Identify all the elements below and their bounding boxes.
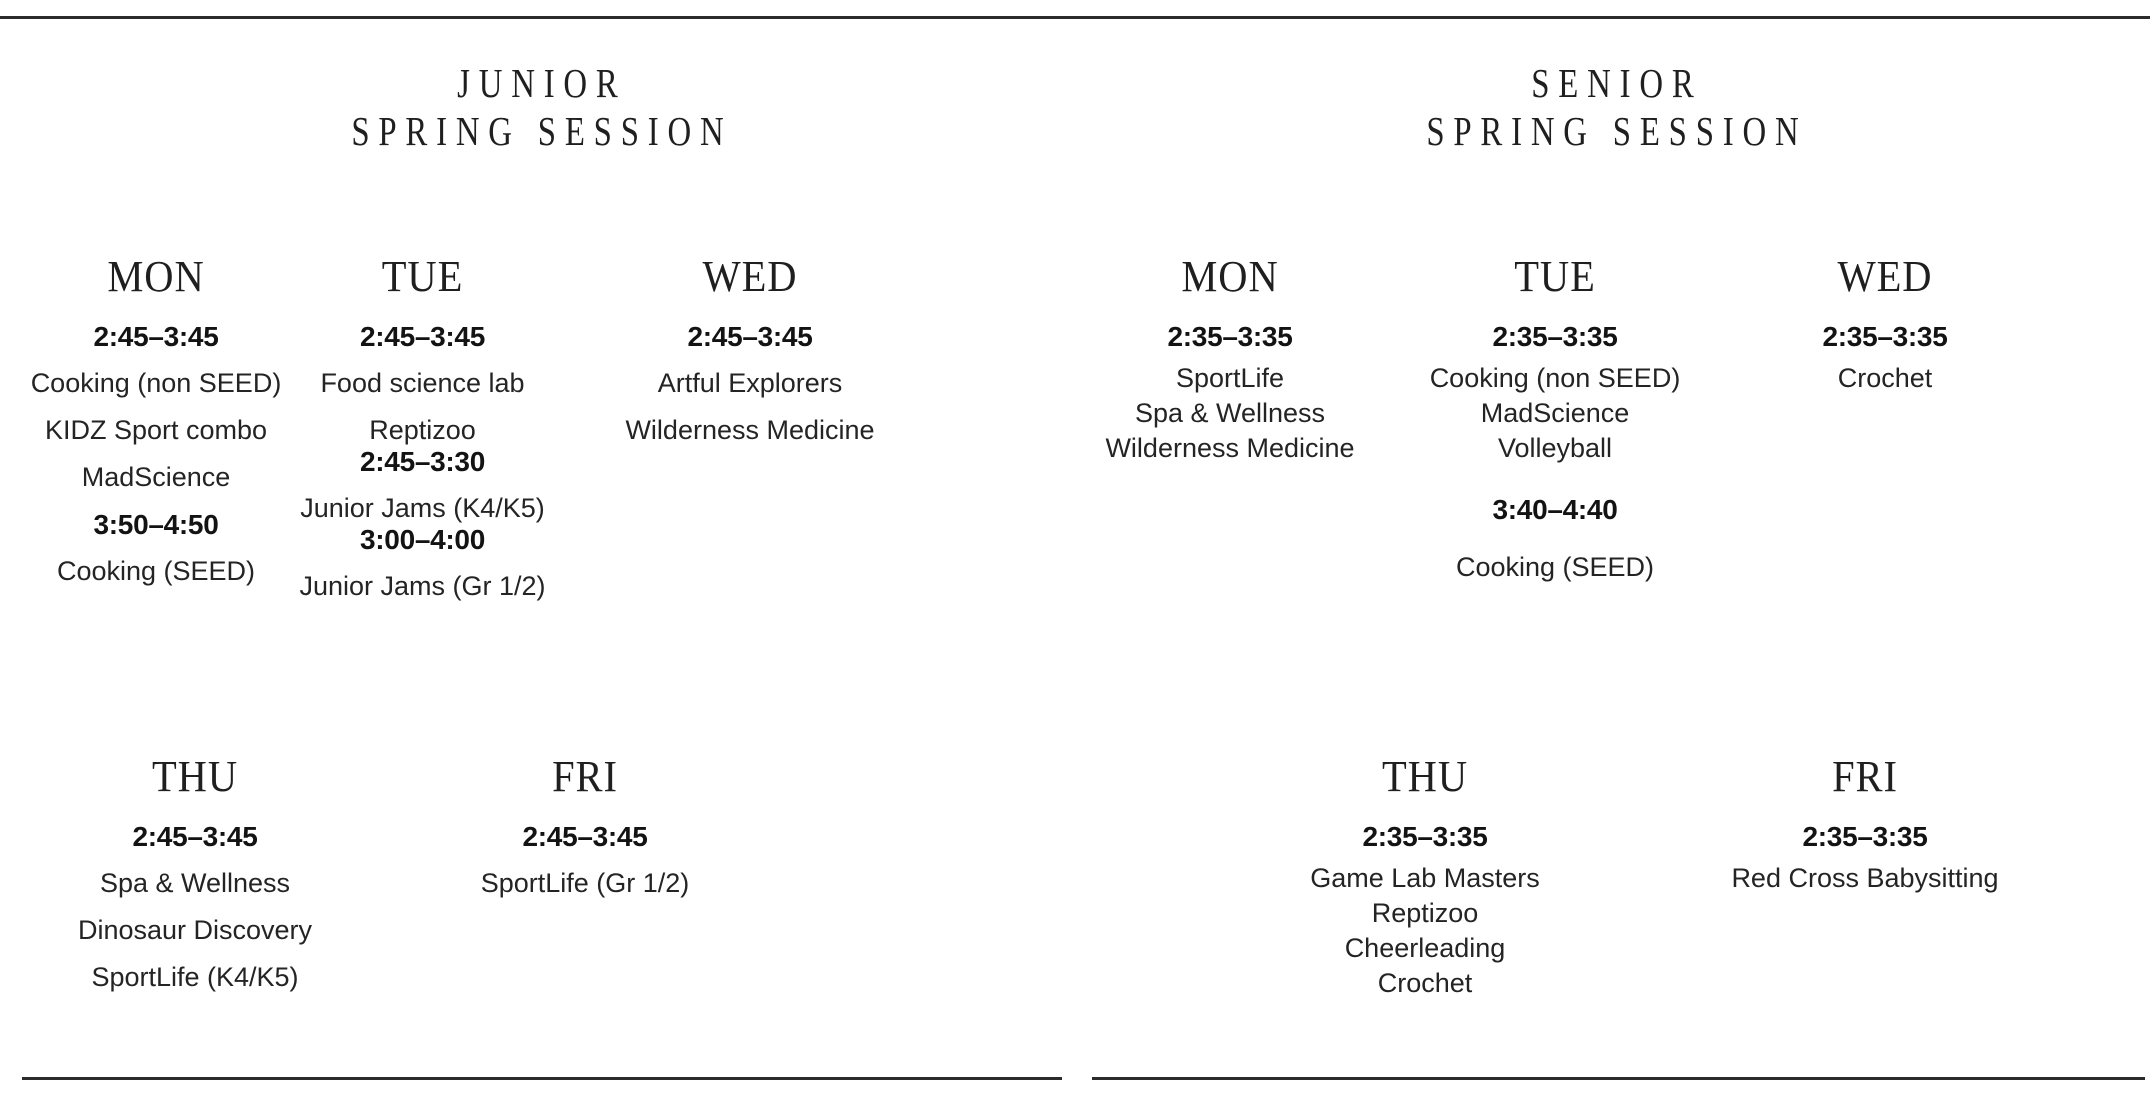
junior-wed-activity: Artful Explorers — [590, 368, 910, 399]
senior-tue-slot-2-time: 3:40–4:40 — [1400, 494, 1710, 526]
senior-mon-slot-1-time: 2:35–3:35 — [1070, 321, 1390, 353]
junior-mon-activity: MadScience — [0, 462, 312, 493]
senior-day-column-mon: MON 2:35–3:35 SportLife Spa & Wellness W… — [1070, 255, 1390, 464]
senior-mon-slot-1: 2:35–3:35 SportLife Spa & Wellness Wilde… — [1070, 321, 1390, 464]
senior-mon-activity: SportLife — [1070, 363, 1390, 394]
junior-fri-activity: SportLife (Gr 1/2) — [440, 868, 730, 899]
junior-day-name-mon: MON — [12, 255, 299, 299]
senior-tue-slot-1: 2:35–3:35 Cooking (non SEED) MadScience … — [1400, 321, 1710, 464]
junior-tue-activity: Reptizoo — [275, 415, 570, 446]
junior-thu-slot-1-time: 2:45–3:45 — [50, 821, 340, 853]
junior-fri-slot-1: 2:45–3:45 SportLife (Gr 1/2) — [440, 821, 730, 899]
junior-mon-activity: KIDZ Sport combo — [0, 415, 312, 446]
junior-session-title-line2: SPRING SESSION — [108, 108, 968, 156]
junior-session-title-line1: JUNIOR — [457, 60, 626, 106]
senior-tue-activity: Cooking (non SEED) — [1400, 363, 1710, 394]
senior-fri-slot-1: 2:35–3:35 Red Cross Babysitting — [1705, 821, 2025, 894]
junior-mon-slot-1-time: 2:45–3:45 — [0, 321, 312, 353]
senior-wed-activity: Crochet — [1735, 363, 2035, 394]
bottom-divider-rule-right — [1092, 1077, 2145, 1080]
senior-session-section: SENIOR SPRING SESSION MON 2:35–3:35 Spor… — [1075, 0, 2150, 1102]
senior-thu-slot-1: 2:35–3:35 Game Lab Masters Reptizoo Chee… — [1275, 821, 1575, 999]
senior-mon-activity: Spa & Wellness — [1070, 398, 1390, 429]
junior-day-name-thu: THU — [62, 755, 329, 799]
junior-tue-slot-3: 3:00–4:00 Junior Jams (Gr 1/2) — [275, 524, 570, 602]
senior-tue-activity: Cooking (SEED) — [1400, 552, 1710, 583]
junior-day-name-fri: FRI — [452, 755, 719, 799]
senior-day-name-fri: FRI — [1718, 755, 2012, 799]
junior-day-name-wed: WED — [603, 255, 897, 299]
senior-wed-slot-1-time: 2:35–3:35 — [1735, 321, 2035, 353]
junior-session-title: JUNIOR SPRING SESSION — [108, 60, 968, 156]
senior-day-name-tue: TUE — [1412, 255, 1697, 299]
junior-day-column-tue: TUE 2:45–3:45 Food science lab Reptizoo … — [275, 255, 570, 602]
senior-thu-slot-1-time: 2:35–3:35 — [1275, 821, 1575, 853]
senior-thu-activity: Reptizoo — [1275, 898, 1575, 929]
junior-session-section: JUNIOR SPRING SESSION MON 2:45–3:45 Cook… — [0, 0, 1075, 1102]
junior-day-column-thu: THU 2:45–3:45 Spa & Wellness Dinosaur Di… — [50, 755, 340, 993]
junior-tue-slot-1: 2:45–3:45 Food science lab Reptizoo — [275, 321, 570, 446]
junior-thu-activity: SportLife (K4/K5) — [50, 962, 340, 993]
senior-day-column-tue: TUE 2:35–3:35 Cooking (non SEED) MadScie… — [1400, 255, 1710, 583]
senior-tue-slot-1-time: 2:35–3:35 — [1400, 321, 1710, 353]
junior-wed-activity: Wilderness Medicine — [590, 415, 910, 446]
senior-tue-activity: Volleyball — [1400, 433, 1710, 464]
junior-mon-activity: Cooking (non SEED) — [0, 368, 312, 399]
senior-day-column-fri: FRI 2:35–3:35 Red Cross Babysitting — [1705, 755, 2025, 894]
junior-thu-activity: Dinosaur Discovery — [50, 915, 340, 946]
junior-day-column-fri: FRI 2:45–3:45 SportLife (Gr 1/2) — [440, 755, 730, 899]
bottom-divider-rule-left — [22, 1077, 1062, 1080]
senior-session-title-line2: SPRING SESSION — [1183, 108, 2043, 156]
junior-tue-activity: Food science lab — [275, 368, 570, 399]
junior-thu-activity: Spa & Wellness — [50, 868, 340, 899]
senior-day-name-thu: THU — [1287, 755, 1563, 799]
junior-tue-slot-3-time: 3:00–4:00 — [275, 524, 570, 556]
senior-tue-slot-2: 3:40–4:40 Cooking (SEED) — [1400, 494, 1710, 583]
junior-mon-slot-2: 3:50–4:50 Cooking (SEED) — [0, 509, 312, 587]
senior-day-column-thu: THU 2:35–3:35 Game Lab Masters Reptizoo … — [1275, 755, 1575, 999]
junior-fri-slot-1-time: 2:45–3:45 — [440, 821, 730, 853]
senior-mon-activity: Wilderness Medicine — [1070, 433, 1390, 464]
junior-tue-slot-2-time: 2:45–3:30 — [275, 446, 570, 478]
junior-mon-activity: Cooking (SEED) — [0, 556, 312, 587]
senior-tue-activity: MadScience — [1400, 398, 1710, 429]
junior-mon-slot-2-time: 3:50–4:50 — [0, 509, 312, 541]
junior-tue-activity: Junior Jams (K4/K5) — [275, 493, 570, 524]
junior-wed-slot-1-time: 2:45–3:45 — [590, 321, 910, 353]
senior-fri-activity: Red Cross Babysitting — [1705, 863, 2025, 894]
junior-mon-slot-1: 2:45–3:45 Cooking (non SEED) KIDZ Sport … — [0, 321, 312, 493]
junior-thu-slot-1: 2:45–3:45 Spa & Wellness Dinosaur Discov… — [50, 821, 340, 993]
senior-thu-activity: Game Lab Masters — [1275, 863, 1575, 894]
junior-day-name-tue: TUE — [287, 255, 558, 299]
junior-tue-activity: Junior Jams (Gr 1/2) — [275, 571, 570, 602]
junior-wed-slot-1: 2:45–3:45 Artful Explorers Wilderness Me… — [590, 321, 910, 446]
senior-day-name-mon: MON — [1083, 255, 1377, 299]
senior-session-title-line1: SENIOR — [1531, 60, 1702, 106]
senior-session-title: SENIOR SPRING SESSION — [1183, 60, 2043, 156]
junior-tue-slot-1-time: 2:45–3:45 — [275, 321, 570, 353]
schedule-page: JUNIOR SPRING SESSION MON 2:45–3:45 Cook… — [0, 0, 2150, 1102]
senior-wed-slot-1: 2:35–3:35 Crochet — [1735, 321, 2035, 394]
junior-day-column-wed: WED 2:45–3:45 Artful Explorers Wildernes… — [590, 255, 910, 446]
senior-day-column-wed: WED 2:35–3:35 Crochet — [1735, 255, 2035, 394]
senior-thu-activity: Crochet — [1275, 968, 1575, 999]
junior-day-column-mon: MON 2:45–3:45 Cooking (non SEED) KIDZ Sp… — [0, 255, 312, 587]
junior-tue-slot-2: 2:45–3:30 Junior Jams (K4/K5) — [275, 446, 570, 524]
senior-thu-activity: Cheerleading — [1275, 933, 1575, 964]
senior-fri-slot-1-time: 2:35–3:35 — [1705, 821, 2025, 853]
senior-day-name-wed: WED — [1747, 255, 2023, 299]
